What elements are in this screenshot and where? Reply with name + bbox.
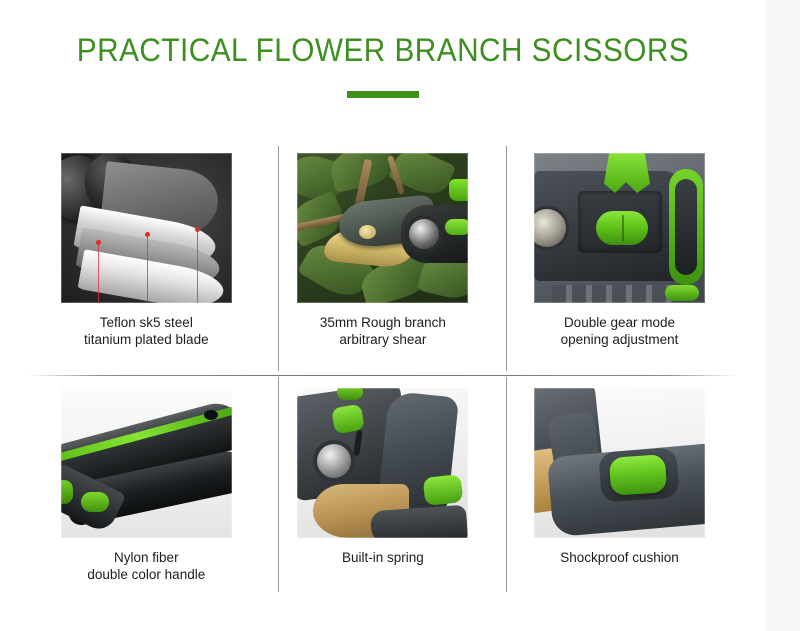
feature-caption-nylon-handle: Nylon fiber double color handle: [87, 549, 205, 583]
title-block: PRACTICAL FLOWER BRANCH SCISSORS: [0, 32, 766, 98]
callout-dot-3: [195, 227, 200, 232]
green-button-shape: [445, 219, 468, 235]
lower-green-accent: [665, 285, 699, 301]
green-button-top-2: [337, 388, 363, 400]
grip-inset-shape: [675, 179, 697, 275]
green-oval-button-shape: [596, 211, 648, 245]
caption-line-2: arbitrary shear: [320, 331, 446, 348]
feature-row-bottom: Nylon fiber double color handle: [28, 375, 738, 610]
feature-caption-teflon-blade: Teflon sk5 steel titanium plated blade: [84, 314, 209, 348]
callout-line-2: [147, 235, 148, 303]
right-edge-band: [766, 0, 800, 631]
column-divider-2: [506, 146, 507, 371]
column-divider-1: [278, 146, 279, 371]
callout-dot-1: [96, 240, 101, 245]
green-button-right: [423, 474, 464, 506]
feature-image-teflon-blade: [61, 153, 232, 303]
caption-line-2: titanium plated blade: [84, 331, 209, 348]
feature-image-built-in-spring: [297, 388, 468, 538]
feature-cell-rough-branch: 35mm Rough branch arbitrary shear: [265, 140, 502, 375]
caption-line-1: Teflon sk5 steel: [84, 314, 209, 331]
feature-caption-rough-branch: 35mm Rough branch arbitrary shear: [320, 314, 446, 348]
green-cushion-shape: [609, 454, 668, 496]
green-pad-shape: [81, 492, 109, 512]
feature-caption-built-in-spring: Built-in spring: [342, 549, 424, 566]
feature-image-shockproof-cushion: [534, 388, 705, 538]
feature-cell-double-gear: Double gear mode opening adjustment: [501, 140, 738, 375]
column-divider-3: [278, 377, 279, 592]
feature-grid: Teflon sk5 steel titanium plated blade: [28, 140, 738, 610]
feature-image-double-gear: [534, 153, 705, 303]
feature-caption-double-gear: Double gear mode opening adjustment: [561, 314, 679, 348]
caption-line-1: Nylon fiber: [87, 549, 205, 566]
feature-cell-nylon-handle: Nylon fiber double color handle: [28, 375, 265, 610]
product-feature-page: PRACTICAL FLOWER BRANCH SCISSORS: [0, 0, 766, 631]
callout-dot-2: [145, 232, 150, 237]
feature-image-rough-branch: [297, 153, 468, 303]
lower-handle-shape: [370, 505, 468, 538]
green-accent-shape: [449, 179, 468, 201]
lower-ribbed-strip: [552, 285, 672, 303]
feature-cell-shockproof-cushion: Shockproof cushion: [501, 375, 738, 610]
caption-line-1: Shockproof cushion: [560, 549, 679, 566]
handle-end-hole: [204, 410, 218, 420]
title-underline-rule: [347, 91, 419, 98]
green-pad-shape-2: [61, 480, 73, 504]
feature-row-top: Teflon sk5 steel titanium plated blade: [28, 140, 738, 375]
callout-line-3: [197, 230, 198, 303]
caption-line-1: Built-in spring: [342, 549, 424, 566]
feature-cell-built-in-spring: Built-in spring: [265, 375, 502, 610]
caption-line-1: 35mm Rough branch: [320, 314, 446, 331]
feature-image-nylon-handle: [61, 388, 232, 538]
caption-line-1: Double gear mode: [561, 314, 679, 331]
page-title: PRACTICAL FLOWER BRANCH SCISSORS: [27, 32, 739, 69]
column-divider-4: [506, 377, 507, 592]
callout-line-1: [98, 243, 99, 303]
feature-caption-shockproof-cushion: Shockproof cushion: [560, 549, 679, 566]
caption-line-2: opening adjustment: [561, 331, 679, 348]
feature-cell-teflon-blade: Teflon sk5 steel titanium plated blade: [28, 140, 265, 375]
caption-line-2: double color handle: [87, 566, 205, 583]
